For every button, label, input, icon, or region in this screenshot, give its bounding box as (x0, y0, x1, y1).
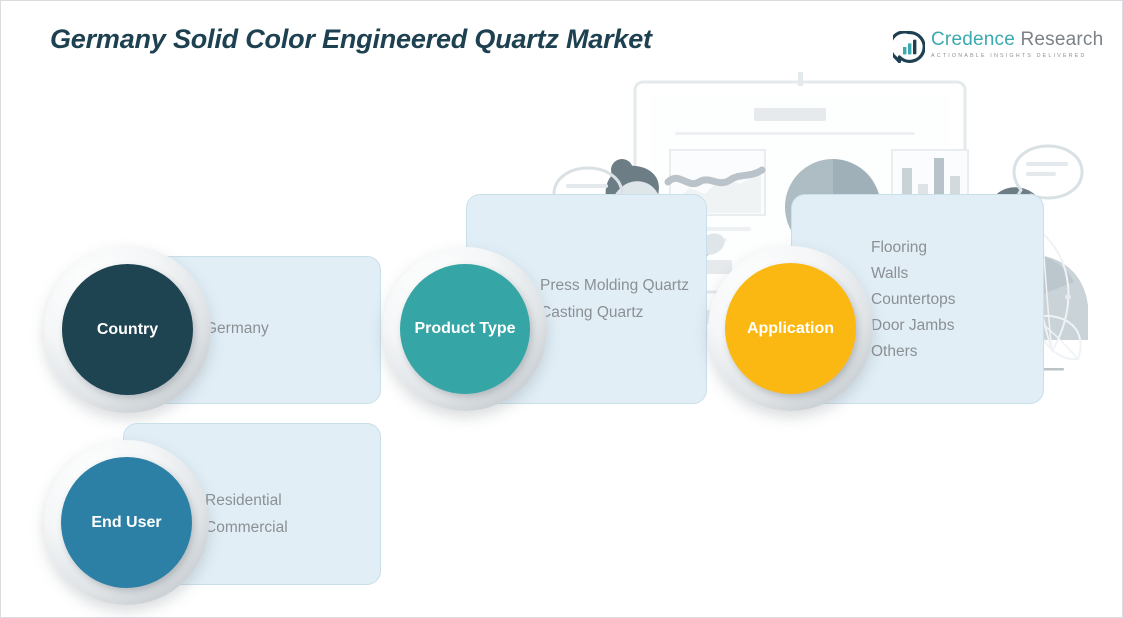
brand-name-research: Research (1015, 29, 1103, 50)
segment-application-label: Application (747, 320, 834, 338)
segment-product-type-disc[interactable]: Product Type (400, 264, 530, 394)
credence-bar-chart-circle-icon (893, 31, 925, 63)
brand-logo[interactable]: Credence Research Actionable Insights De… (893, 29, 1083, 69)
page-title: Germany Solid Color Engineered Quartz Ma… (50, 24, 652, 55)
segment-product-type-label: Product Type (414, 320, 515, 338)
list-item: Press Molding Quartz (540, 272, 689, 299)
segment-end-user-label: End User (91, 514, 161, 532)
list-item: Flooring (871, 235, 955, 261)
segment-end-user-items: Residential Commercial (205, 487, 288, 541)
segment-country-disc[interactable]: Country (62, 264, 193, 395)
infographic-canvas: Germany Country Press Molding Quartz Cas… (0, 0, 1123, 618)
list-item: Door Jambs (871, 313, 955, 339)
brand-logo-wordmark: Credence Research (931, 29, 1103, 51)
brand-tagline: Actionable Insights Delivered (931, 53, 1103, 59)
list-item: Germany (205, 315, 269, 342)
list-item: Commercial (205, 514, 288, 541)
segment-product-type-items: Press Molding Quartz Casting Quartz (540, 272, 689, 326)
segment-country-label: Country (97, 321, 158, 339)
list-item: Walls (871, 261, 955, 287)
brand-logo-text: Credence Research Actionable Insights De… (931, 29, 1103, 59)
frame-border-left (0, 0, 1, 618)
frame-border-top (0, 0, 1123, 1)
list-item: Casting Quartz (540, 299, 689, 326)
list-item: Others (871, 339, 955, 365)
brand-name-credence: Credence (931, 29, 1015, 50)
segment-end-user-disc[interactable]: End User (61, 457, 192, 588)
segment-application-items: Flooring Walls Countertops Door Jambs Ot… (871, 235, 955, 365)
segment-country-items: Germany (205, 315, 269, 342)
list-item: Residential (205, 487, 288, 514)
segment-application-disc[interactable]: Application (725, 263, 856, 394)
list-item: Countertops (871, 287, 955, 313)
